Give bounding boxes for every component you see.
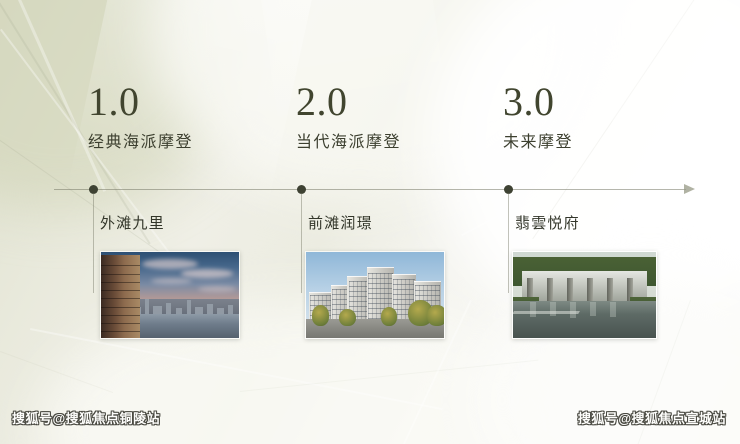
timeline-stem xyxy=(93,193,94,293)
project-name-1: 外滩九里 xyxy=(100,216,165,231)
slide-canvas: 1.0 经典海派摩登 外滩九里 xyxy=(0,0,740,444)
timeline-stem xyxy=(508,193,509,293)
project-photo-2[interactable] xyxy=(305,251,445,339)
photo3-reflecting-pool xyxy=(513,301,656,338)
project-photo-1[interactable] xyxy=(100,251,240,339)
generation-number: 1.0 xyxy=(88,82,193,122)
project-photo-3[interactable] xyxy=(512,251,657,339)
timeline-node-2[interactable]: 2.0 当代海派摩登 xyxy=(296,82,401,151)
timeline-node-3[interactable]: 3.0 未来摩登 xyxy=(503,82,573,151)
watermark-right: 搜狐号@搜狐焦点宣城站 xyxy=(578,408,726,427)
photo1-foreground-tower xyxy=(101,255,140,338)
generation-number: 3.0 xyxy=(503,82,573,122)
timeline-arrow-icon xyxy=(684,184,695,194)
timeline-axis xyxy=(54,189,686,190)
timeline-node-1[interactable]: 1.0 经典海派摩登 xyxy=(88,82,193,151)
generation-subtitle: 未来摩登 xyxy=(503,135,573,151)
generation-number: 2.0 xyxy=(296,82,401,122)
project-name-2: 前滩润璟 xyxy=(308,216,373,231)
project-name-3: 翡雲悦府 xyxy=(515,216,580,231)
timeline-stem xyxy=(301,193,302,293)
generation-subtitle: 经典海派摩登 xyxy=(88,135,193,151)
watermark-left: 搜狐号@搜狐焦点铜陵站 xyxy=(12,408,160,427)
generation-subtitle: 当代海派摩登 xyxy=(296,135,401,151)
